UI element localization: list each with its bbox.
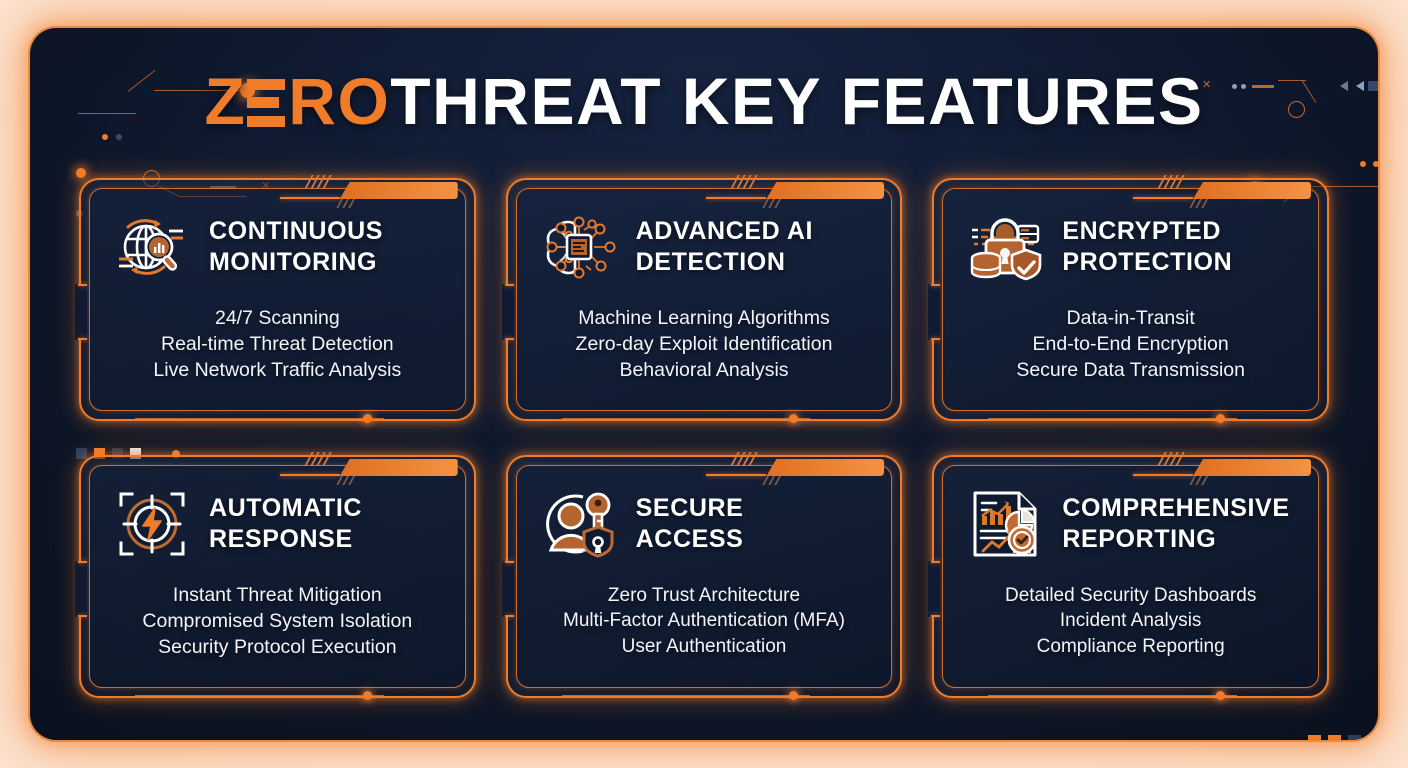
card-feature-line: Zero-day Exploit Identification bbox=[532, 332, 877, 358]
decor-square bbox=[1308, 735, 1321, 740]
card-feature-list: Instant Threat Mitigation Compromised Sy… bbox=[105, 583, 450, 661]
feature-card-automatic-response[interactable]: AUTOMATIC RESPONSE Instant Threat Mitiga… bbox=[75, 445, 480, 708]
card-feature-line: Zero Trust Architecture bbox=[532, 583, 877, 608]
card-feature-line: Real-time Threat Detection bbox=[105, 332, 450, 358]
title-zero-ro: RO bbox=[288, 64, 390, 138]
card-title: AUTOMATIC RESPONSE bbox=[209, 493, 362, 555]
page-header: ZROTHREAT KEY FEATURES bbox=[30, 68, 1378, 134]
card-title-line2: PROTECTION bbox=[1062, 247, 1232, 278]
title-threat-key-features: THREAT KEY FEATURES bbox=[390, 64, 1203, 138]
card-feature-line: Multi-Factor Authentication (MFA) bbox=[532, 608, 877, 633]
feature-card-encrypted-protection[interactable]: ENCRYPTED PROTECTION Data-in-Transit End… bbox=[928, 168, 1333, 431]
main-panel: ✕ ✕ bbox=[30, 28, 1378, 740]
card-title-line2: REPORTING bbox=[1062, 524, 1289, 555]
card-title-line1: AUTOMATIC bbox=[209, 493, 362, 524]
feature-card-advanced-ai-detection[interactable]: ADVANCED AI DETECTION Machine Learning A… bbox=[502, 168, 907, 431]
card-feature-line: Instant Threat Mitigation bbox=[105, 583, 450, 609]
card-feature-line: Incident Analysis bbox=[958, 608, 1303, 633]
card-title: SECURE ACCESS bbox=[636, 493, 744, 555]
decor-dot bbox=[116, 134, 122, 140]
title-zero-z: Z bbox=[204, 64, 246, 138]
card-title-line1: COMPREHENSIVE bbox=[1062, 493, 1289, 524]
card-feature-line: End-to-End Encryption bbox=[958, 332, 1303, 358]
card-feature-list: Zero Trust Architecture Multi-Factor Aut… bbox=[532, 583, 877, 659]
card-feature-line: Security Protocol Execution bbox=[105, 635, 450, 661]
decor-dot bbox=[102, 134, 108, 140]
card-feature-line: Secure Data Transmission bbox=[958, 358, 1303, 384]
card-title-line1: ENCRYPTED bbox=[1062, 216, 1232, 247]
card-title: ENCRYPTED PROTECTION bbox=[1062, 216, 1232, 278]
card-feature-line: 24/7 Scanning bbox=[105, 306, 450, 332]
card-title-line2: MONITORING bbox=[209, 247, 383, 278]
decor-dot bbox=[1373, 161, 1378, 167]
user-key-shield-icon bbox=[536, 481, 622, 567]
feature-card-secure-access[interactable]: SECURE ACCESS Zero Trust Architecture Mu… bbox=[502, 445, 907, 708]
card-title: COMPREHENSIVE REPORTING bbox=[1062, 493, 1289, 555]
decor-square bbox=[1348, 735, 1361, 740]
page-title: ZROTHREAT KEY FEATURES bbox=[204, 68, 1203, 134]
card-feature-line: Compromised System Isolation bbox=[105, 609, 450, 635]
card-title-line2: DETECTION bbox=[636, 247, 813, 278]
card-feature-list: Data-in-Transit End-to-End Encryption Se… bbox=[958, 306, 1303, 384]
card-feature-line: User Authentication bbox=[532, 634, 877, 659]
card-title-line1: ADVANCED AI bbox=[636, 216, 813, 247]
card-feature-list: Detailed Security Dashboards Incident An… bbox=[958, 583, 1303, 659]
card-title-line2: ACCESS bbox=[636, 524, 744, 555]
title-bar-e-glyph bbox=[247, 79, 285, 127]
card-title: ADVANCED AI DETECTION bbox=[636, 216, 813, 278]
page-background: ✕ ✕ bbox=[0, 0, 1408, 768]
padlock-database-shield-icon bbox=[962, 204, 1048, 290]
card-feature-line: Live Network Traffic Analysis bbox=[105, 358, 450, 384]
report-document-charts-icon bbox=[962, 481, 1048, 567]
decor-square bbox=[1368, 735, 1378, 740]
decor-dot bbox=[1360, 161, 1366, 167]
card-feature-list: 24/7 Scanning Real-time Threat Detection… bbox=[105, 306, 450, 384]
card-title-line1: CONTINUOUS bbox=[209, 216, 383, 247]
card-title-line2: RESPONSE bbox=[209, 524, 362, 555]
card-feature-list: Machine Learning Algorithms Zero-day Exp… bbox=[532, 306, 877, 384]
feature-card-comprehensive-reporting[interactable]: COMPREHENSIVE REPORTING Detailed Securit… bbox=[928, 445, 1333, 708]
card-title: CONTINUOUS MONITORING bbox=[209, 216, 383, 278]
card-feature-line: Machine Learning Algorithms bbox=[532, 306, 877, 332]
card-title-line1: SECURE bbox=[636, 493, 744, 524]
globe-magnifier-icon bbox=[109, 204, 195, 290]
feature-card-grid: CONTINUOUS MONITORING 24/7 Scanning Real… bbox=[75, 168, 1333, 708]
decor-square bbox=[1328, 735, 1341, 740]
card-feature-line: Detailed Security Dashboards bbox=[958, 583, 1303, 608]
feature-card-continuous-monitoring[interactable]: CONTINUOUS MONITORING 24/7 Scanning Real… bbox=[75, 168, 480, 431]
ai-brain-chip-icon bbox=[536, 204, 622, 290]
card-feature-line: Compliance Reporting bbox=[958, 634, 1303, 659]
crosshair-lightning-icon bbox=[109, 481, 195, 567]
card-feature-line: Behavioral Analysis bbox=[532, 358, 877, 384]
card-feature-line: Data-in-Transit bbox=[958, 306, 1303, 332]
